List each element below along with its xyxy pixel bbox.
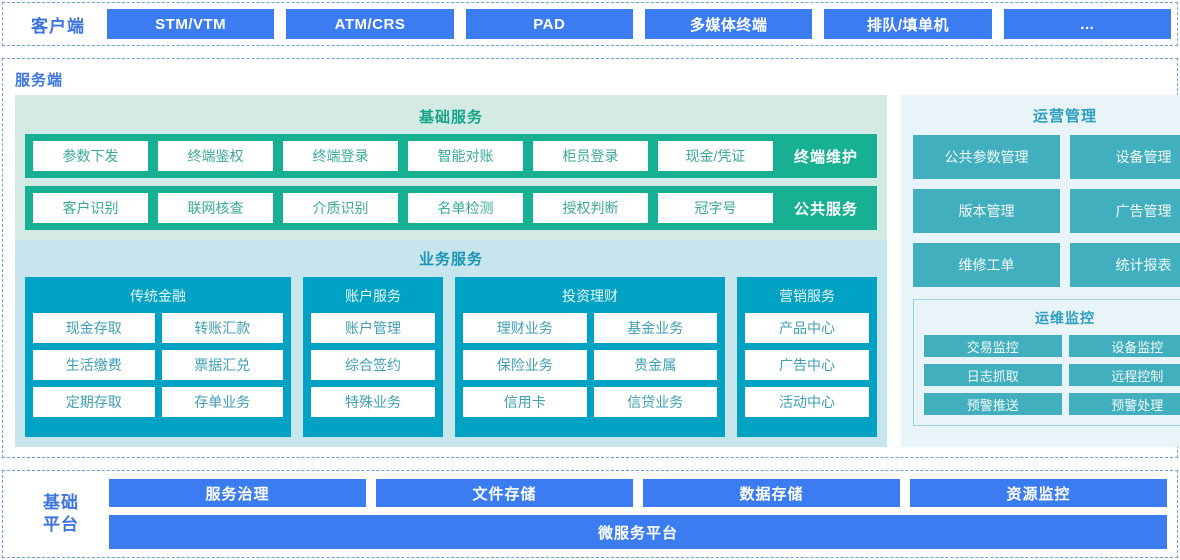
basic-chip-terminal-login[interactable]: 终端登录	[283, 141, 398, 171]
platform-layer-title: 基础 平台	[13, 492, 109, 536]
client-button-more[interactable]: ...	[1004, 9, 1171, 39]
monitoring-cell-transaction-monitoring[interactable]: 交易监控	[924, 335, 1062, 357]
platform-content: 服务治理 文件存储 数据存储 资源监控 微服务平台	[109, 479, 1167, 549]
om-monitoring-title: 运维监控	[924, 304, 1180, 335]
monitoring-cell-alert-handling[interactable]: 预警处理	[1069, 393, 1180, 415]
client-layer: 客户端 STM/VTM ATM/CRS PAD 多媒体终端 排队/填单机 ...	[2, 2, 1178, 46]
business-column-title-marketing-service: 营销服务	[745, 283, 869, 313]
monitoring-cell-alert-push[interactable]: 预警推送	[924, 393, 1062, 415]
platform-title-line1: 基础	[13, 492, 109, 514]
basic-services-row-terminal-maintenance: 参数下发 终端鉴权 终端登录 智能对账 柜员登录 现金/凭证 终端维护	[25, 134, 877, 178]
basic-chip-smart-reconciliation[interactable]: 智能对账	[408, 141, 523, 171]
architecture-diagram: 客户端 STM/VTM ATM/CRS PAD 多媒体终端 排队/填单机 ...…	[0, 0, 1180, 560]
platform-button-service-governance[interactable]: 服务治理	[109, 479, 366, 507]
server-layer-body: 基础服务 参数下发 终端鉴权 终端登录 智能对账 柜员登录 现金/凭证 终端维护…	[15, 95, 1165, 447]
basic-services-row-label-terminal-maintenance: 终端维护	[783, 146, 869, 167]
ops-cell-statistical-report[interactable]: 统计报表	[1070, 243, 1180, 287]
platform-button-microservice-platform[interactable]: 微服务平台	[109, 515, 1167, 549]
server-layer-title: 服务端	[15, 69, 63, 90]
basic-chip-terminal-auth[interactable]: 终端鉴权	[158, 141, 273, 171]
business-services-panel: 业务服务 传统金融 现金存取 转账汇款 生活缴费 票据汇兑 定期存取 存单业务	[15, 240, 887, 447]
client-layer-title: 客户端	[9, 12, 107, 37]
ops-cell-advertising-management[interactable]: 广告管理	[1070, 189, 1180, 233]
ops-cell-repair-work-order[interactable]: 维修工单	[913, 243, 1060, 287]
business-column-investment-finance: 投资理财 理财业务 基金业务 保险业务 贵金属 信用卡 信贷业务	[455, 277, 725, 437]
business-services-columns: 传统金融 现金存取 转账汇款 生活缴费 票据汇兑 定期存取 存单业务	[25, 277, 877, 437]
business-column-marketing-service: 营销服务 产品中心 广告中心 活动中心	[737, 277, 877, 437]
business-cell-precious-metals[interactable]: 贵金属	[594, 350, 718, 380]
business-column-title-investment-finance: 投资理财	[463, 283, 717, 313]
client-button-atm-crs[interactable]: ATM/CRS	[286, 9, 453, 39]
client-button-stm-vtm[interactable]: STM/VTM	[107, 9, 274, 39]
basic-services-title: 基础服务	[25, 101, 877, 134]
client-button-queue-form-machine[interactable]: 排队/填单机	[824, 9, 991, 39]
basic-chip-cash-voucher[interactable]: 现金/凭证	[658, 141, 773, 171]
business-cell-certificate-deposit[interactable]: 存单业务	[162, 387, 284, 417]
basic-chip-param-delivery[interactable]: 参数下发	[33, 141, 148, 171]
client-button-multimedia-terminal[interactable]: 多媒体终端	[645, 9, 812, 39]
monitoring-cell-log-capture[interactable]: 日志抓取	[924, 364, 1062, 386]
business-cell-living-payment[interactable]: 生活缴费	[33, 350, 155, 380]
business-column-grid-investment-finance: 理财业务 基金业务 保险业务 贵金属 信用卡 信贷业务	[463, 313, 717, 417]
platform-layer: 基础 平台 服务治理 文件存储 数据存储 资源监控 微服务平台	[2, 470, 1178, 558]
basic-chip-online-verification[interactable]: 联网核查	[158, 193, 273, 223]
business-column-title-account-service: 账户服务	[311, 283, 435, 313]
business-cell-product-center[interactable]: 产品中心	[745, 313, 869, 343]
server-layer: 服务端 基础服务 参数下发 终端鉴权 终端登录 智能对账 柜员登录 现金/凭证 …	[2, 58, 1178, 458]
business-services-title: 业务服务	[25, 244, 877, 277]
client-button-group: STM/VTM ATM/CRS PAD 多媒体终端 排队/填单机 ...	[107, 9, 1171, 39]
ops-cell-device-management[interactable]: 设备管理	[1070, 135, 1180, 179]
business-cell-activity-center[interactable]: 活动中心	[745, 387, 869, 417]
business-cell-cash-deposit-withdrawal[interactable]: 现金存取	[33, 313, 155, 343]
basic-chip-blacklist-check[interactable]: 名单检测	[408, 193, 523, 223]
basic-chip-teller-login[interactable]: 柜员登录	[533, 141, 648, 171]
business-cell-account-management[interactable]: 账户管理	[311, 313, 435, 343]
basic-chip-media-recognition[interactable]: 介质识别	[283, 193, 398, 223]
om-monitoring-grid: 交易监控 设备监控 日志抓取 远程控制 预警推送 预警处理	[924, 335, 1180, 415]
platform-button-row: 服务治理 文件存储 数据存储 资源监控	[109, 479, 1167, 507]
platform-button-resource-monitoring[interactable]: 资源监控	[910, 479, 1167, 507]
business-cell-credit-card[interactable]: 信用卡	[463, 387, 587, 417]
om-monitoring-panel: 运维监控 交易监控 设备监控 日志抓取 远程控制 预警推送 预警处理	[913, 299, 1180, 426]
business-cell-bill-exchange[interactable]: 票据汇兑	[162, 350, 284, 380]
platform-button-data-storage[interactable]: 数据存储	[643, 479, 900, 507]
platform-title-line2: 平台	[13, 514, 109, 536]
operations-management-panel: 运营管理 公共参数管理 设备管理 版本管理 广告管理 维修工单 统计报表 运维监…	[901, 95, 1180, 447]
basic-services-row-label-public-service: 公共服务	[783, 198, 869, 219]
monitoring-cell-device-monitoring[interactable]: 设备监控	[1069, 335, 1180, 357]
business-cell-transfer-remittance[interactable]: 转账汇款	[162, 313, 284, 343]
client-button-pad[interactable]: PAD	[466, 9, 633, 39]
basic-chip-serial-number[interactable]: 冠字号	[658, 193, 773, 223]
ops-cell-public-parameter-management[interactable]: 公共参数管理	[913, 135, 1060, 179]
operations-management-title: 运营管理	[913, 103, 1180, 135]
business-cell-credit-business[interactable]: 信贷业务	[594, 387, 718, 417]
platform-button-file-storage[interactable]: 文件存储	[376, 479, 633, 507]
business-column-grid-traditional-finance: 现金存取 转账汇款 生活缴费 票据汇兑 定期存取 存单业务	[33, 313, 283, 417]
server-left-column: 基础服务 参数下发 终端鉴权 终端登录 智能对账 柜员登录 现金/凭证 终端维护…	[15, 95, 887, 447]
monitoring-cell-remote-control[interactable]: 远程控制	[1069, 364, 1180, 386]
business-column-account-service: 账户服务 账户管理 综合签约 特殊业务	[303, 277, 443, 437]
ops-cell-version-management[interactable]: 版本管理	[913, 189, 1060, 233]
business-cell-fund-business[interactable]: 基金业务	[594, 313, 718, 343]
business-column-grid-marketing-service: 产品中心 广告中心 活动中心	[745, 313, 869, 417]
basic-chip-customer-identification[interactable]: 客户识别	[33, 193, 148, 223]
business-column-title-traditional-finance: 传统金融	[33, 283, 283, 313]
business-cell-special-business[interactable]: 特殊业务	[311, 387, 435, 417]
basic-services-panel: 基础服务 参数下发 终端鉴权 终端登录 智能对账 柜员登录 现金/凭证 终端维护…	[15, 95, 887, 240]
business-cell-comprehensive-signing[interactable]: 综合签约	[311, 350, 435, 380]
business-column-traditional-finance: 传统金融 现金存取 转账汇款 生活缴费 票据汇兑 定期存取 存单业务	[25, 277, 291, 437]
business-cell-wealth-management[interactable]: 理财业务	[463, 313, 587, 343]
business-column-grid-account-service: 账户管理 综合签约 特殊业务	[311, 313, 435, 417]
business-cell-insurance-business[interactable]: 保险业务	[463, 350, 587, 380]
business-cell-fixed-deposit[interactable]: 定期存取	[33, 387, 155, 417]
business-cell-advertising-center[interactable]: 广告中心	[745, 350, 869, 380]
operations-management-grid: 公共参数管理 设备管理 版本管理 广告管理 维修工单 统计报表	[913, 135, 1180, 287]
basic-services-row-public-service: 客户识别 联网核查 介质识别 名单检测 授权判断 冠字号 公共服务	[25, 186, 877, 230]
basic-chip-authorization-judgement[interactable]: 授权判断	[533, 193, 648, 223]
